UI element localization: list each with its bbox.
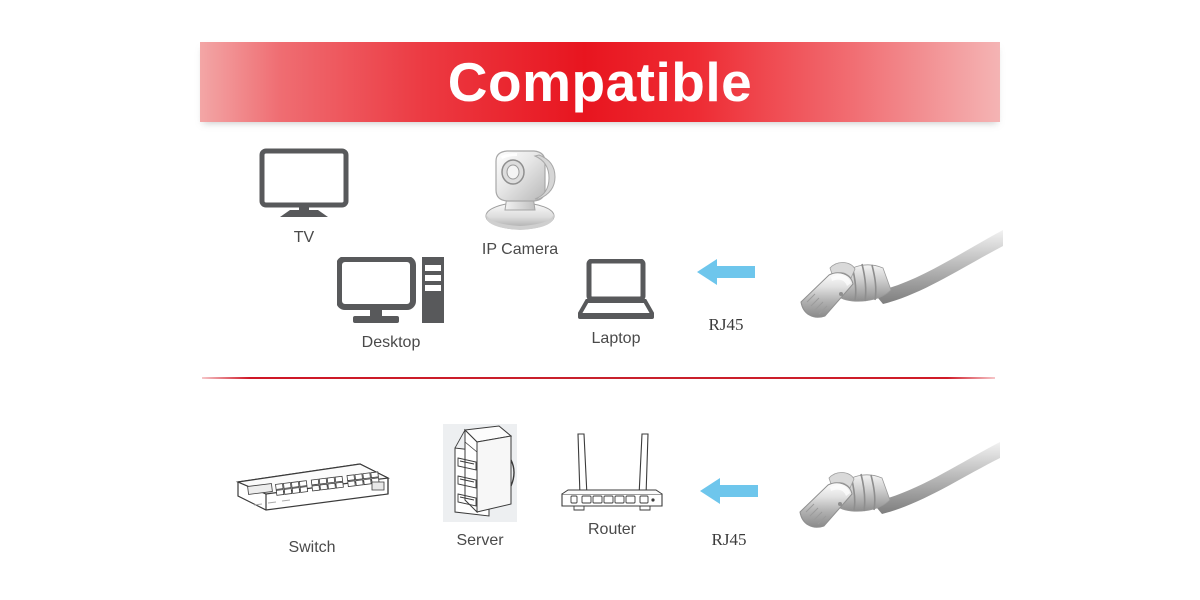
- device-router: Router: [558, 432, 666, 539]
- device-server-caption: Server: [443, 528, 517, 550]
- rj45-cable-image-top: [795, 228, 1005, 343]
- device-laptop: Laptop: [578, 259, 654, 348]
- connector-rj45-bottom: RJ45: [700, 475, 758, 550]
- switch-icon: [232, 452, 392, 525]
- router-icon: [558, 432, 666, 519]
- device-label-server: Server: [456, 532, 503, 550]
- device-desktop: Desktop: [337, 257, 445, 352]
- ip-camera-icon: [477, 144, 563, 237]
- compatible-banner: Compatible: [200, 42, 1000, 122]
- rj45-cable-image-bottom: [792, 440, 1002, 555]
- arrow-left-icon: [700, 475, 758, 512]
- section-divider: [202, 377, 995, 379]
- device-ip-camera: IP Camera: [477, 144, 563, 259]
- desktop-icon: [337, 257, 445, 330]
- connector-rj45-top: RJ45: [697, 256, 755, 335]
- device-label-tv: TV: [294, 229, 314, 247]
- page-title: Compatible: [448, 55, 752, 110]
- connector-label-rj45-bottom: RJ45: [712, 530, 747, 550]
- device-label-switch: Switch: [288, 539, 335, 557]
- device-label-desktop: Desktop: [362, 334, 421, 352]
- device-switch: Switch: [232, 452, 392, 557]
- server-icon: [443, 424, 517, 527]
- device-label-laptop: Laptop: [592, 330, 641, 348]
- laptop-icon: [578, 259, 654, 326]
- rj45-connector-icon: [795, 228, 1005, 343]
- rj45-connector-icon: [792, 440, 1002, 555]
- arrow-left-icon: [697, 256, 755, 293]
- tv-icon: [258, 148, 350, 225]
- connector-label-rj45-top: RJ45: [709, 315, 744, 335]
- device-label-ip-camera: IP Camera: [482, 241, 558, 259]
- device-label-router: Router: [588, 521, 636, 539]
- device-tv: TV: [258, 148, 350, 247]
- device-server: [443, 424, 517, 527]
